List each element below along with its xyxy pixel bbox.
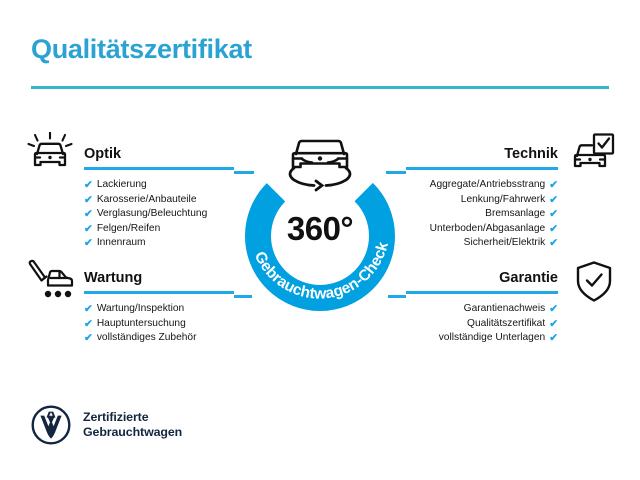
section-rule-technik [406, 167, 558, 170]
car-service-tool-icon [26, 258, 74, 300]
checklist-item: Unterboden/Abgasanlage✔ [406, 222, 558, 237]
checklist-item-label: Unterboden/Abgasanlage [430, 222, 546, 237]
checklist-item: Garantienachweis✔ [406, 302, 558, 317]
header-divider [31, 86, 609, 89]
checklist-item: Sicherheit/Elektrik✔ [406, 236, 558, 251]
vw-logo [31, 405, 71, 445]
checklist-item: Bremsanlage✔ [406, 207, 558, 222]
check-icon: ✔ [84, 180, 93, 191]
checklist-item: vollständige Unterlagen✔ [406, 331, 558, 346]
checklist-optik: ✔Lackierung✔Karosserie/Anbauteile✔Vergla… [84, 178, 234, 251]
check-icon: ✔ [549, 238, 558, 249]
checklist-item: ✔vollständiges Zubehör [84, 331, 234, 346]
checklist-item: ✔Verglasung/Beleuchtung [84, 207, 234, 222]
checklist-item: ✔Felgen/Reifen [84, 222, 234, 237]
checklist-item: ✔Karosserie/Anbauteile [84, 193, 234, 208]
check-icon: ✔ [84, 224, 93, 235]
check-icon: ✔ [84, 304, 93, 315]
checklist-item-label: vollständige Unterlagen [439, 331, 545, 346]
car-checkbox-icon [568, 132, 616, 172]
checklist-item: Aggregate/Antriebsstrang✔ [406, 178, 558, 193]
checklist-item: ✔Wartung/Inspektion [84, 302, 234, 317]
footer-line-1: Zertifizierte [83, 410, 149, 424]
check-icon: ✔ [549, 180, 558, 191]
section-title-wartung: Wartung [84, 268, 234, 288]
checklist-item: ✔Innenraum [84, 236, 234, 251]
check-icon: ✔ [549, 195, 558, 206]
checklist-item-label: Hauptuntersuchung [97, 317, 186, 332]
checklist-item-label: Sicherheit/Elektrik [464, 236, 546, 251]
section-garantie: Garantie Garantienachweis✔Qualitätszerti… [406, 268, 558, 346]
section-rule-wartung [84, 291, 234, 294]
section-title-optik: Optik [84, 144, 234, 164]
footer-line-2: Gebrauchtwagen [83, 425, 182, 439]
checklist-item-label: vollständiges Zubehör [97, 331, 197, 346]
checklist-wartung: ✔Wartung/Inspektion✔Hauptuntersuchung✔vo… [84, 302, 234, 346]
badge-360-gebrauchtwagen-check: Gebrauchtwagen-Check [224, 124, 416, 316]
car-front-shine-icon [26, 132, 74, 172]
checklist-item-label: Garantienachweis [464, 302, 546, 317]
section-rule-garantie [406, 291, 558, 294]
section-wartung: Wartung ✔Wartung/Inspektion✔Hauptuntersu… [84, 268, 234, 346]
shield-check-icon [574, 260, 614, 304]
check-icon: ✔ [549, 319, 558, 330]
check-icon: ✔ [549, 209, 558, 220]
checklist-item-label: Lackierung [97, 178, 147, 193]
footer-brand: Zertifizierte Gebrauchtwagen [31, 405, 182, 445]
check-icon: ✔ [84, 209, 93, 220]
checklist-item-label: Karosserie/Anbauteile [97, 193, 197, 208]
checklist-garantie: Garantienachweis✔Qualitätszertifikat✔vol… [406, 302, 558, 346]
section-technik: Technik Aggregate/Antriebsstrang✔Lenkung… [406, 144, 558, 251]
section-title-garantie: Garantie [406, 268, 558, 288]
checklist-item-label: Lenkung/Fahrwerk [461, 193, 545, 208]
checklist-item-label: Bremsanlage [485, 207, 545, 222]
checklist-item-label: Innenraum [97, 236, 146, 251]
check-icon: ✔ [549, 333, 558, 344]
check-icon: ✔ [84, 195, 93, 206]
certificate-page: Qualitätszertifikat [0, 0, 640, 480]
footer-text: Zertifizierte Gebrauchtwagen [83, 410, 182, 441]
check-icon: ✔ [84, 319, 93, 330]
checklist-technik: Aggregate/Antriebsstrang✔Lenkung/Fahrwer… [406, 178, 558, 251]
check-icon: ✔ [84, 333, 93, 344]
section-title-technik: Technik [406, 144, 558, 164]
check-icon: ✔ [84, 238, 93, 249]
checklist-item-label: Felgen/Reifen [97, 222, 160, 237]
page-title: Qualitätszertifikat [31, 36, 252, 63]
checklist-item: Lenkung/Fahrwerk✔ [406, 193, 558, 208]
checklist-item-label: Verglasung/Beleuchtung [97, 207, 207, 222]
checklist-item: ✔Hauptuntersuchung [84, 317, 234, 332]
checklist-item: Qualitätszertifikat✔ [406, 317, 558, 332]
check-icon: ✔ [549, 304, 558, 315]
checklist-item: ✔Lackierung [84, 178, 234, 193]
section-optik: Optik ✔Lackierung✔Karosserie/Anbauteile✔… [84, 144, 234, 251]
checklist-item-label: Aggregate/Antriebsstrang [430, 178, 546, 193]
checklist-item-label: Qualitätszertifikat [467, 317, 545, 332]
check-icon: ✔ [549, 224, 558, 235]
section-rule-optik [84, 167, 234, 170]
checklist-item-label: Wartung/Inspektion [97, 302, 184, 317]
